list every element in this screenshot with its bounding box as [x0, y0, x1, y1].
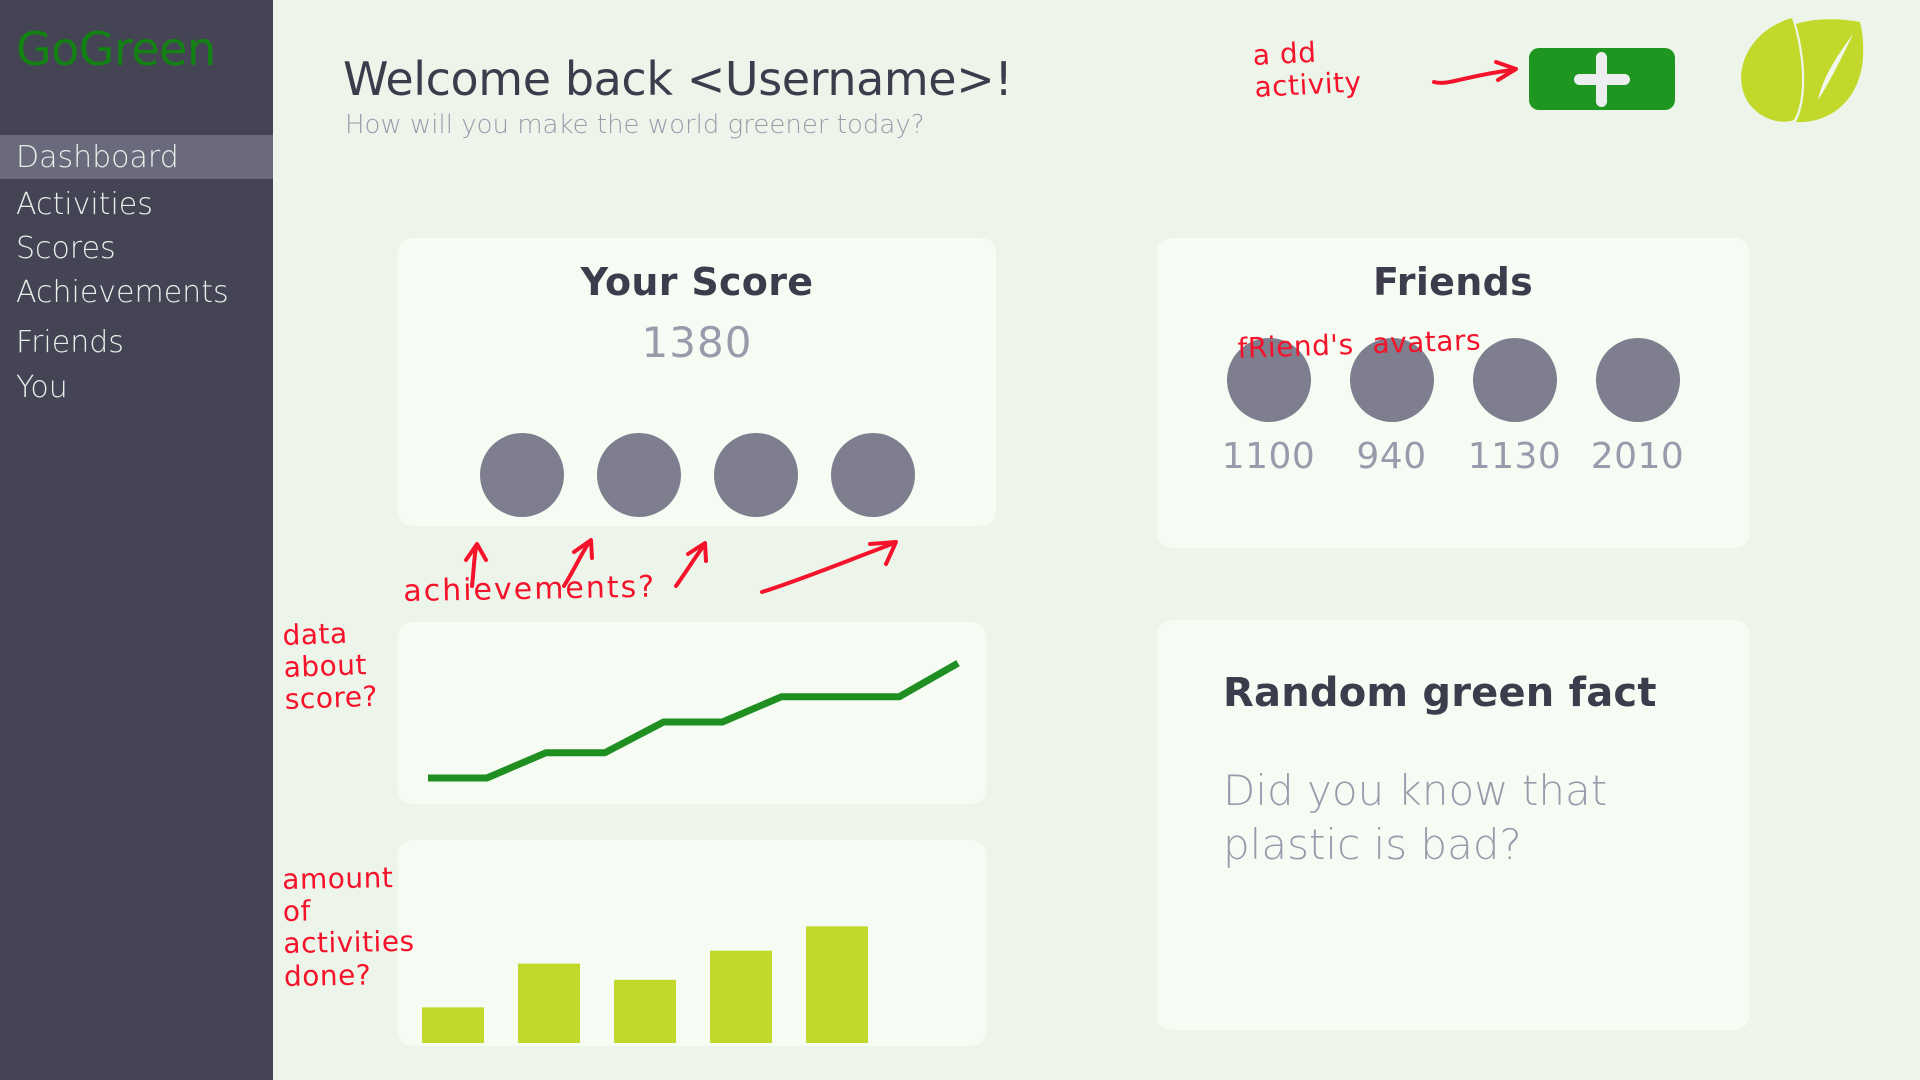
- annotation-activity-amount: amount of activities done?: [282, 862, 415, 993]
- activities-done-chart: [398, 840, 986, 1046]
- random-fact-body: Did you know that plastic is bad?: [1223, 764, 1683, 872]
- leaf-logo-icon: [1730, 8, 1870, 128]
- avatar[interactable]: [1596, 338, 1680, 422]
- activities-chart-card: [398, 840, 986, 1046]
- sidebar-item-activities[interactable]: Activities: [0, 182, 273, 226]
- random-fact-card: Random green fact Did you know that plas…: [1157, 620, 1749, 1030]
- plus-icon-bar: [1596, 52, 1607, 107]
- annotation-long-arrow-achievements: [756, 542, 916, 602]
- page-title: Welcome back <Username>!: [343, 52, 1012, 106]
- random-fact-title: Random green fact: [1223, 670, 1749, 716]
- sidebar-item-label: Activities: [16, 187, 153, 222]
- achievement-badge[interactable]: [714, 433, 798, 517]
- sidebar-item-you[interactable]: You: [0, 365, 273, 409]
- score-card: Your Score 1380: [398, 238, 996, 526]
- add-activity-button[interactable]: [1529, 48, 1675, 110]
- friend-score: 1130: [1468, 436, 1562, 477]
- page-subtitle: How will you make the world greener toda…: [345, 110, 925, 140]
- friend-score: 940: [1356, 436, 1426, 477]
- sidebar: GoGreen Dashboard Activities Scores Achi…: [0, 0, 273, 1080]
- sidebar-item-label: You: [16, 370, 68, 405]
- dashboard-page: GoGreen Dashboard Activities Scores Achi…: [0, 0, 1920, 1080]
- bar: [806, 926, 868, 1043]
- annotation-achievements: achievements?: [403, 571, 656, 610]
- bar: [710, 951, 772, 1043]
- sidebar-item-dashboard[interactable]: Dashboard: [0, 135, 273, 179]
- line-series: [428, 663, 958, 778]
- annotation-arrow-add-activity: [1430, 60, 1540, 100]
- score-history-chart: [398, 622, 986, 804]
- achievement-badge[interactable]: [831, 433, 915, 517]
- app-logo-text: GoGreen: [16, 22, 216, 76]
- avatar[interactable]: [1473, 338, 1557, 422]
- score-history-chart-card: [398, 622, 986, 804]
- score-card-title: Your Score: [398, 260, 996, 304]
- friend-score: 2010: [1591, 436, 1685, 477]
- friends-card: Friends 1100 940 1130 2010: [1157, 238, 1749, 548]
- achievement-badge[interactable]: [480, 433, 564, 517]
- bar: [614, 980, 676, 1043]
- score-value: 1380: [398, 318, 996, 367]
- friend-entry[interactable]: 2010: [1594, 338, 1682, 477]
- bar: [518, 964, 580, 1043]
- achievement-badge[interactable]: [597, 433, 681, 517]
- annotation-add-activity: a dd activity: [1252, 34, 1362, 104]
- sidebar-item-achievements[interactable]: Achievements: [0, 270, 273, 314]
- sidebar-item-label: Scores: [16, 231, 116, 266]
- friends-card-title: Friends: [1157, 260, 1749, 304]
- sidebar-item-friends[interactable]: Friends: [0, 320, 273, 364]
- annotation-score-data: data about score?: [282, 617, 378, 717]
- sidebar-item-label: Dashboard: [16, 140, 179, 175]
- sidebar-item-scores[interactable]: Scores: [0, 226, 273, 270]
- sidebar-item-label: Friends: [16, 325, 124, 360]
- friend-entry[interactable]: 1130: [1471, 338, 1559, 477]
- friend-score: 1100: [1222, 436, 1316, 477]
- bar: [422, 1007, 484, 1043]
- achievement-badge-row: [398, 433, 996, 517]
- sidebar-item-label: Achievements: [16, 275, 229, 310]
